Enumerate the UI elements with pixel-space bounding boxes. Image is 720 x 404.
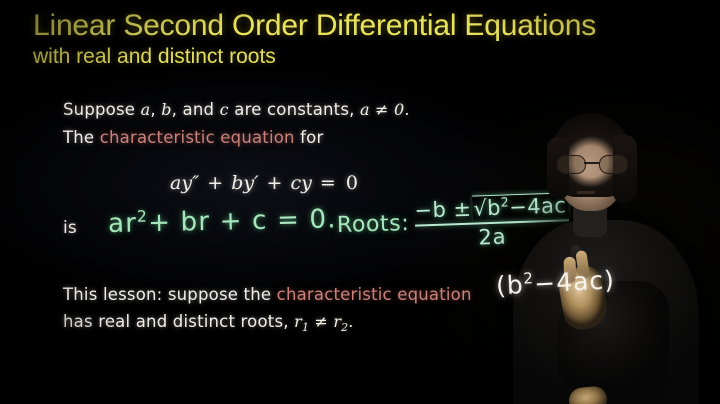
premise-text-6: for (295, 128, 324, 147)
lecture-slide: Linear Second Order Differential Equatio… (0, 0, 720, 404)
instructor-hair (549, 113, 633, 197)
numerator-prefix: −b ± (414, 197, 472, 223)
premise-text-1: Suppose (63, 100, 141, 119)
instructor-mouth (577, 191, 595, 194)
discriminant-suffix: −4ac) (533, 265, 615, 298)
premise-text-4: are constants, (229, 100, 360, 119)
handwritten-quadratic-formula: −b ±√b2−4ac 2a (414, 192, 570, 251)
handwritten-characteristic-equation: ar2+ br + c = 0. (108, 204, 337, 239)
premise-text-2: , (150, 100, 161, 119)
variable-b: b (161, 100, 171, 119)
eq-c: c (290, 172, 301, 194)
root-r2: r2 (333, 312, 348, 331)
discriminant-prefix: (b (495, 270, 524, 300)
radical-group: √b2−4ac (472, 192, 569, 220)
premise-text-5: The (63, 128, 100, 147)
page-subtitle: with real and distinct roots (33, 45, 713, 68)
display-equation: ay″ + by′ + cy = 0 (0, 172, 530, 194)
instructor-neck (573, 203, 607, 237)
variable-c: c (220, 100, 229, 119)
lesson-period: . (348, 312, 353, 331)
instructor-hair-left (547, 137, 569, 199)
root-r2-letter: r (333, 312, 341, 331)
not-equal-sign: ≠ (309, 312, 333, 331)
title-block: Linear Second Order Differential Equatio… (33, 10, 713, 68)
variable-a: a (141, 100, 151, 119)
glasses-bridge (584, 162, 599, 164)
eq-b: b (231, 172, 243, 194)
hand-rest: + br + c = 0. (148, 204, 337, 238)
accent-characteristic-equation: characteristic equation (100, 128, 295, 147)
eq-a: a (170, 172, 181, 194)
root-r1-letter: r (294, 312, 302, 331)
instructor-hair-right (613, 135, 637, 203)
glasses-lens-right (599, 155, 628, 174)
root-r1: r1 (294, 312, 309, 331)
lesson-line-2: has real and distinct roots, r1 ≠ r2. (63, 312, 354, 334)
lesson-line-1: This lesson: suppose the characteristic … (63, 285, 472, 304)
eq-y-prime: y′ (243, 172, 258, 194)
accent-characteristic-equation-2: characteristic equation (277, 285, 472, 304)
hand-ar: ar (108, 208, 138, 239)
page-title: Linear Second Order Differential Equatio… (33, 10, 713, 42)
premise-line-2: The characteristic equation for (63, 128, 323, 147)
eq-plus-2: + (258, 172, 290, 194)
handwritten-roots-label: Roots: (337, 211, 410, 238)
hand-ar-exponent: 2 (137, 208, 148, 226)
lesson-text-2: has real and distinct roots, (63, 312, 294, 331)
lesson-text-1: This lesson: suppose the (63, 285, 277, 304)
glasses-icon (557, 155, 627, 172)
eq-plus-1: + (199, 172, 231, 194)
premise-line-1: Suppose a, b, and c are constants, a ≠ 0… (63, 100, 410, 119)
glasses-lens-left (557, 155, 586, 174)
eq-y-double-prime: y″ (181, 172, 199, 194)
instructor-resting-hand (568, 385, 609, 404)
formula-denominator: 2a (415, 222, 569, 251)
eq-equals: = (312, 172, 344, 194)
instructor-torso (513, 220, 699, 404)
radicand-rest: −4ac (509, 193, 567, 219)
instructor-figure (505, 95, 720, 404)
eq-y: y (301, 172, 312, 194)
eq-zero: 0 (344, 172, 360, 194)
is-label: is (63, 218, 77, 238)
condition-a-nonzero: a ≠ 0. (360, 100, 410, 119)
radicand-b: b (487, 196, 502, 220)
formula-numerator: −b ±√b2−4ac (414, 192, 569, 222)
instructor-arm (557, 281, 669, 401)
handwritten-discriminant: (b2−4ac) (495, 265, 615, 301)
premise-text-3: , and (172, 100, 220, 119)
